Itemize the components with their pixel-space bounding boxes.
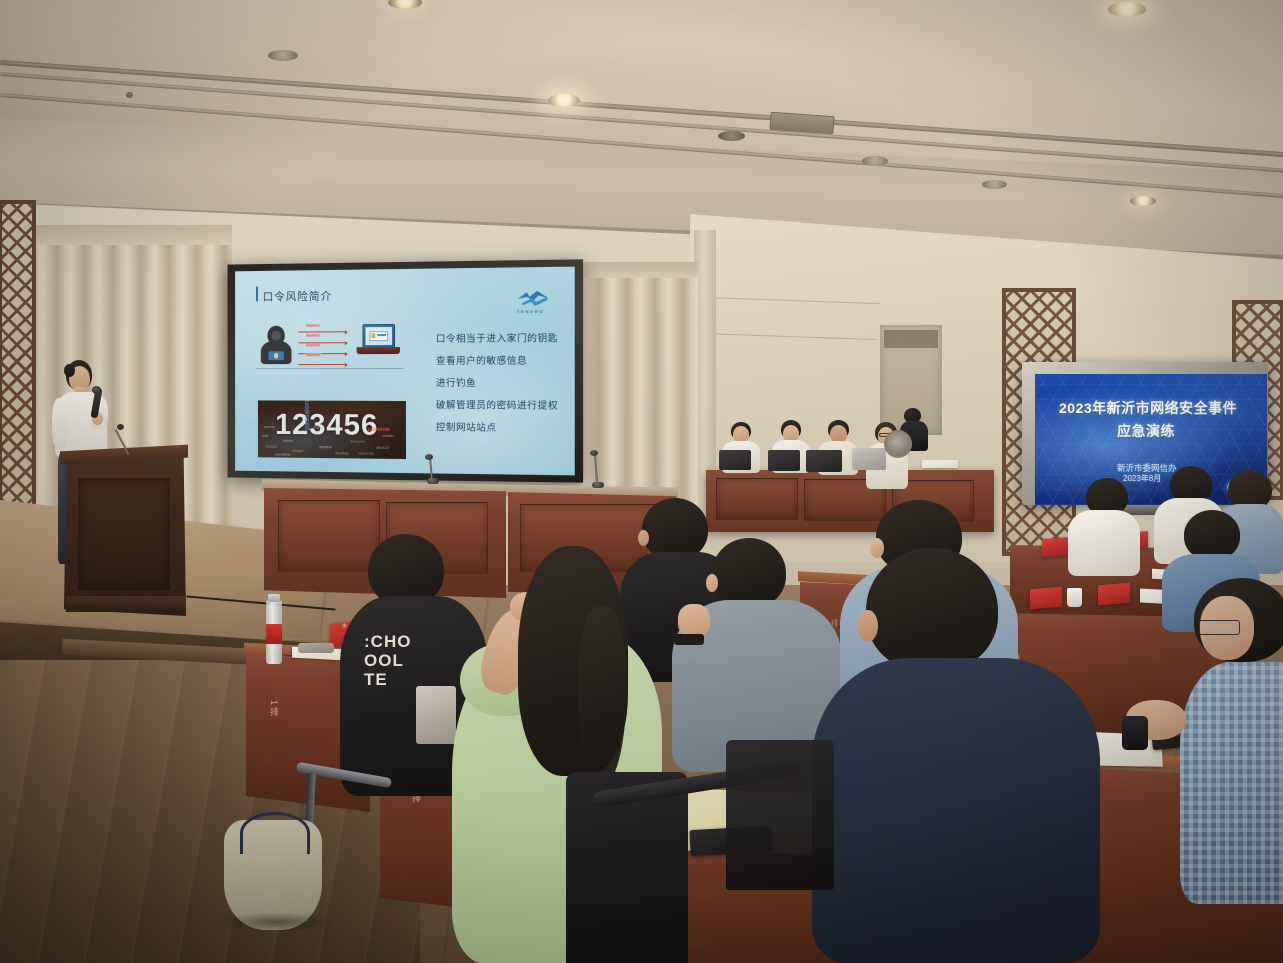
attendee-hair-strand <box>578 606 626 786</box>
laptop-field-icon <box>377 334 386 336</box>
attendee-ear <box>858 610 878 642</box>
projection-screen-frame: 口令风险简介 TENGEO disabled1 <box>228 259 584 482</box>
back-table-papers <box>922 460 958 468</box>
slide-divider-line <box>256 368 404 369</box>
slide-title: 口令风险简介 <box>263 288 332 304</box>
water-bottle-label <box>266 624 282 644</box>
presenter-sleeve-left <box>52 398 68 450</box>
curtain-rail-right <box>578 262 698 278</box>
water-bottle-cap <box>268 594 280 602</box>
presenter-hair-bun <box>64 364 75 377</box>
podium-mic-head-icon <box>117 424 124 430</box>
attendee-hair <box>712 538 786 608</box>
conference-room-photo: 口令风险简介 TENGEO disabled1 <box>0 0 1283 963</box>
wordcloud-word: sunshine <box>275 452 290 457</box>
slide-title-accent-bar <box>256 287 258 302</box>
ceiling-downlight-9 <box>126 92 133 98</box>
wordcloud-word: abc123 <box>376 445 389 450</box>
ceiling-downlight-6 <box>862 156 888 166</box>
laptop-base-icon <box>357 347 400 354</box>
tote-bag-shadow <box>218 912 336 932</box>
attack-label-3: disabled3 <box>305 343 321 347</box>
ceiling-downlight-7 <box>982 180 1007 189</box>
logo-wordmark: TENGEO <box>517 309 544 314</box>
attack-label-2: disabled2 <box>305 333 321 337</box>
staff-laptop <box>806 450 842 472</box>
logo-glyph-icon <box>514 289 553 308</box>
row-label-left-1: 1排 <box>268 700 281 718</box>
attack-arrow-4 <box>298 364 347 365</box>
hacker-icon <box>260 326 293 365</box>
wordcloud-word: dragon <box>292 448 304 453</box>
attack-label-4: disabled4 <box>305 353 321 357</box>
attack-label-1: disabled1 <box>305 324 321 328</box>
ceiling-downlight-8 <box>1130 196 1156 206</box>
attendee-shirt <box>812 658 1100 963</box>
tote-bag-strap <box>240 812 310 854</box>
podium-front-panel <box>78 478 170 590</box>
laptop-icon <box>357 324 400 366</box>
slide-bullet: 进行钓鱼 <box>436 375 476 389</box>
attendee-shirt <box>1068 510 1140 576</box>
rostrum-mic-head-1 <box>425 454 433 460</box>
ceiling-downlight-3 <box>268 50 298 61</box>
podium-base <box>66 596 186 612</box>
wordcloud-word: login <box>314 424 322 429</box>
wordcloud-word: 123456789 <box>367 427 389 432</box>
rostrum-mic-base-1 <box>427 478 439 484</box>
slide-bullet: 破解管理员的密码进行提权 <box>436 397 558 412</box>
rostrum-mic-head-2 <box>590 450 598 456</box>
wordcloud-word: admin <box>283 438 293 443</box>
tengeo-logo: TENGEO <box>514 289 553 314</box>
attendee <box>1180 578 1283 908</box>
ceiling-downlight-5 <box>718 131 745 141</box>
attendee-ear <box>706 574 718 592</box>
slide-bullet: 口令相当于进入家门的钥匙 <box>436 330 558 345</box>
wristwatch <box>1122 716 1148 750</box>
slide-bullet: 查看用户的敏感信息 <box>436 353 527 367</box>
tshirt-graphic: :CHOOOLTE <box>364 632 424 688</box>
pedestal-fan <box>884 430 912 458</box>
staff-laptop <box>852 448 886 470</box>
wordcloud-word: master <box>382 433 394 438</box>
wall-niche-inner <box>884 330 938 348</box>
curtain-rail-left <box>36 225 232 245</box>
eyeglasses-icon <box>1198 620 1240 635</box>
attendee-hair <box>1184 510 1240 560</box>
hacker-face-icon <box>271 331 281 341</box>
wordcloud-word: iloveyou <box>351 439 365 444</box>
wordcloud-word: 111111 <box>266 444 277 449</box>
hacker-laptop-glyph <box>274 353 278 358</box>
wordcloud-word: qwerty <box>264 424 275 429</box>
attendee <box>812 548 1102 963</box>
led-title-line1: 2023年新沂市网络安全事件 <box>1059 398 1237 418</box>
staff-laptop <box>719 450 751 470</box>
attendee <box>1068 478 1142 578</box>
attack-arrow-1 <box>298 331 347 332</box>
attendee-shirt <box>1180 662 1283 904</box>
wordcloud-word: root <box>262 433 269 438</box>
attendee-ear <box>638 530 649 546</box>
wordcloud-word: password <box>304 400 311 430</box>
desk-items-left <box>298 643 334 653</box>
projection-slide: 口令风险简介 TENGEO disabled1 <box>235 267 575 476</box>
attack-arrows-group: disabled1 disabled2 disabled3 disabled4 <box>296 323 348 367</box>
name-placard <box>1098 583 1130 606</box>
attendee-hair <box>866 548 998 672</box>
microphone-head-icon <box>92 386 101 394</box>
laptop-lock-icon <box>371 333 375 338</box>
chair <box>726 740 834 890</box>
led-title-line2: 应急演练 <box>1117 421 1175 441</box>
wordcloud-word: letmein <box>320 444 333 449</box>
staff-laptop <box>768 450 800 471</box>
slide-bullet: 控制网站站点 <box>436 419 497 434</box>
wordcloud-word: welcome <box>359 451 375 456</box>
ceiling-glow-4 <box>532 84 598 116</box>
password-wordcloud: 123456 password 123456789 qwerty admin l… <box>258 400 406 459</box>
wordcloud-word: monkey <box>335 450 349 455</box>
